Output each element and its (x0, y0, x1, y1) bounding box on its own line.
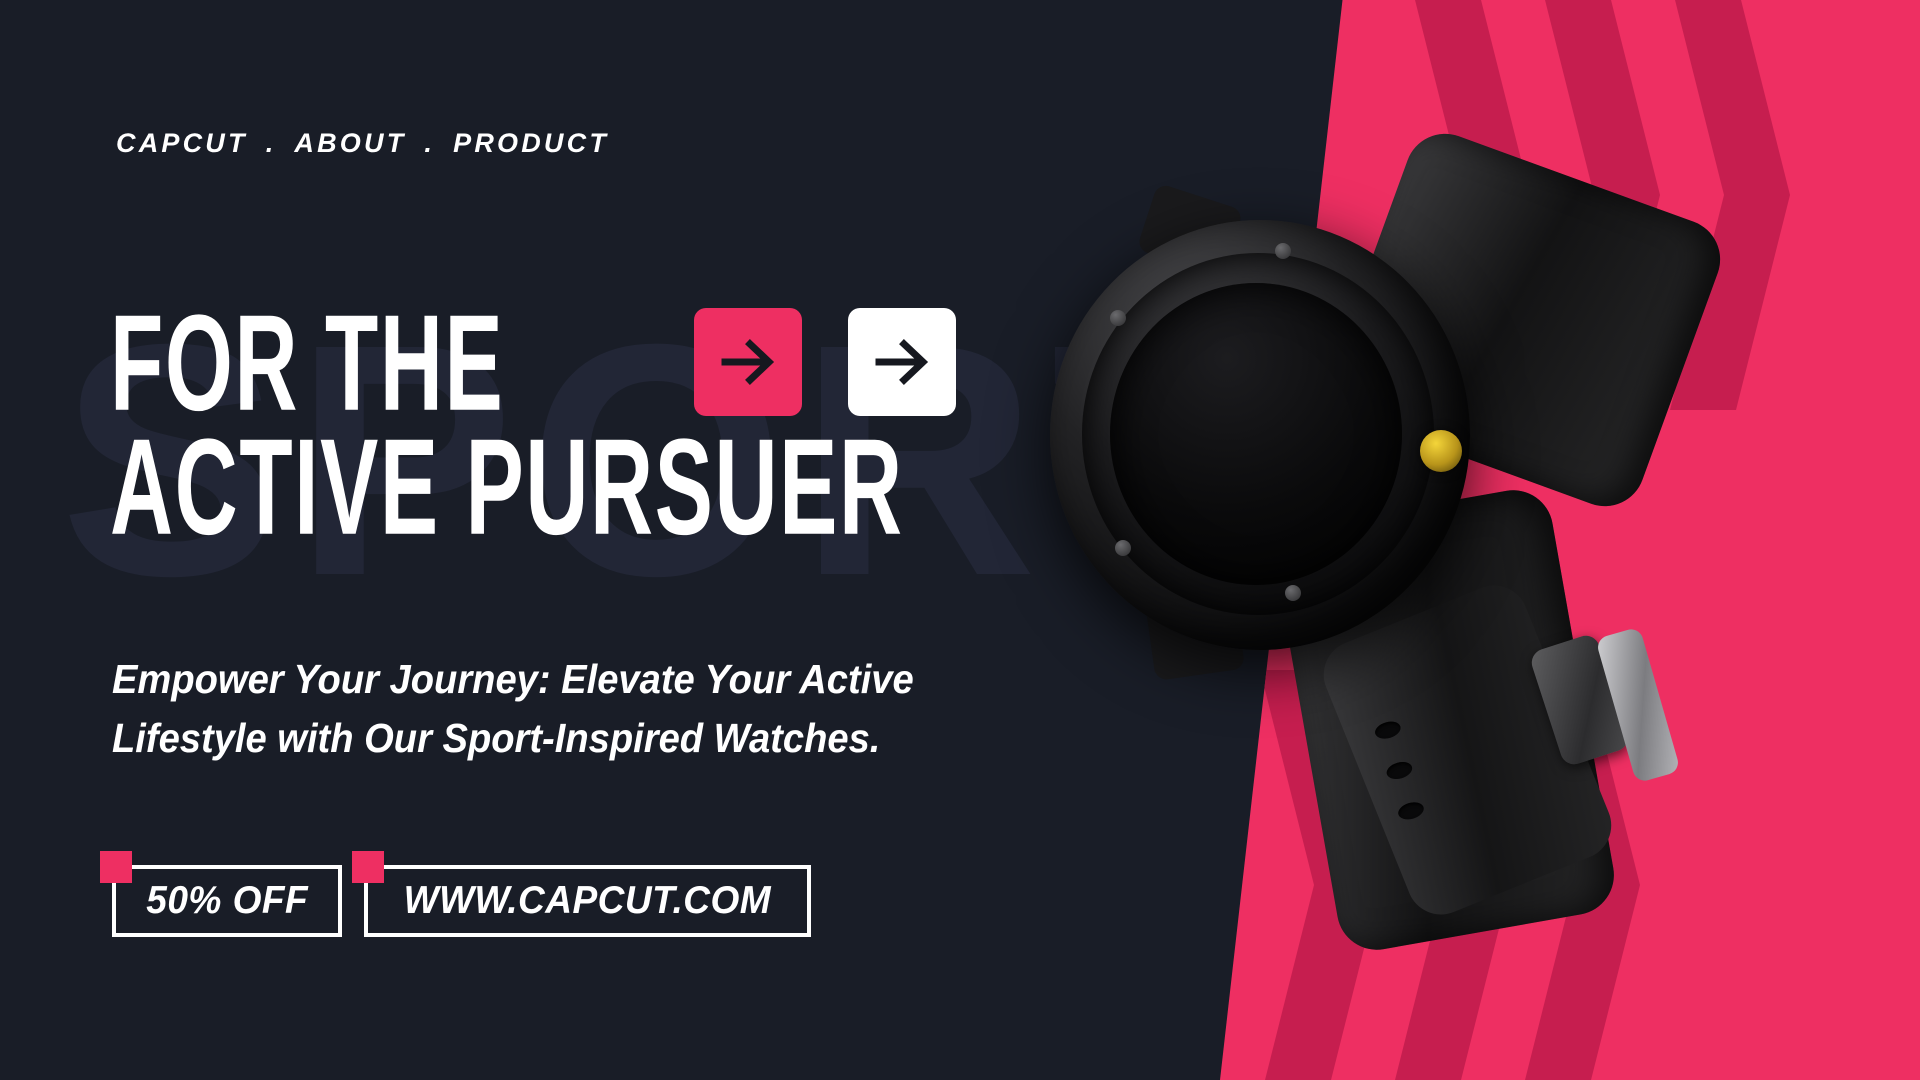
nav-item-about[interactable]: ABOUT (294, 128, 406, 159)
watch-crown (1420, 430, 1462, 472)
badge-corner-accent (352, 851, 384, 883)
arrow-right-icon (717, 331, 779, 393)
hero-subtitle: Empower Your Journey: Elevate Your Activ… (112, 650, 884, 769)
nav-separator: . (248, 128, 295, 159)
nav-separator: . (406, 128, 453, 159)
watch-screw (1275, 243, 1291, 259)
nav-item-capcut[interactable]: CAPCUT (116, 128, 248, 159)
headline-line-1: FOR THE (110, 300, 504, 427)
discount-badge[interactable]: 50% OFF (112, 865, 342, 937)
subtitle-line-1: Empower Your Journey: Elevate Your Activ… (112, 650, 884, 709)
arrow-right-button-primary[interactable] (694, 308, 802, 416)
watch-screw (1285, 585, 1301, 601)
arrow-right-icon (871, 331, 933, 393)
headline-line-2: ACTIVE PURSUER (110, 424, 904, 551)
discount-badge-label: 50% OFF (146, 879, 308, 923)
product-image-smartwatch (1090, 175, 1790, 895)
watch-face (1110, 283, 1402, 585)
website-badge[interactable]: WWW.CAPCUT.COM (364, 865, 811, 937)
content-column: CAPCUT . ABOUT . PRODUCT FOR THE (0, 0, 1000, 1080)
subtitle-line-2: Lifestyle with Our Sport-Inspired Watche… (112, 709, 884, 768)
promo-banner: SPORT CAPCUT . ABOUT . PRODUCT (0, 0, 1920, 1080)
website-badge-label: WWW.CAPCUT.COM (404, 879, 771, 923)
cta-arrow-group (694, 308, 956, 416)
main-navigation: CAPCUT . ABOUT . PRODUCT (116, 128, 609, 159)
watch-screw (1115, 540, 1131, 556)
nav-item-product[interactable]: PRODUCT (453, 128, 609, 159)
footer-badges: 50% OFF WWW.CAPCUT.COM (112, 865, 811, 937)
badge-corner-accent (100, 851, 132, 883)
arrow-right-button-secondary[interactable] (848, 308, 956, 416)
hero-headline: FOR THE (110, 300, 1127, 528)
